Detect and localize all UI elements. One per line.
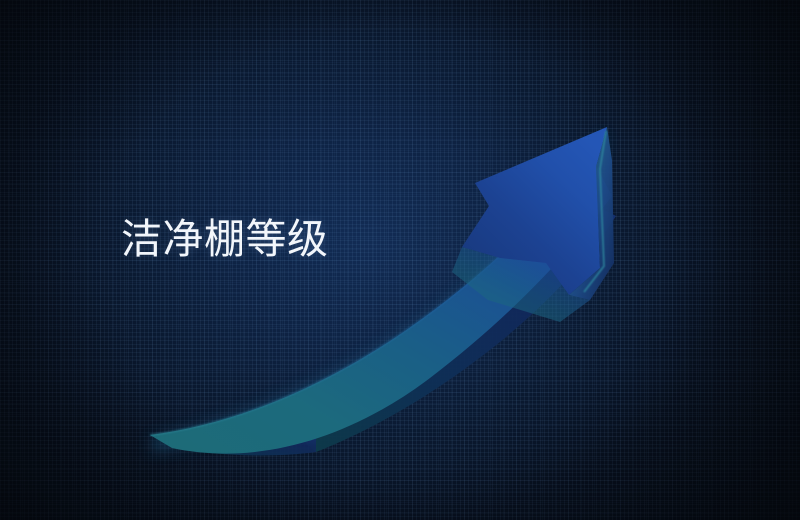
poster-canvas: 洁净棚等级 — [0, 0, 800, 520]
page-title: 洁净棚等级 — [121, 219, 329, 260]
growth-arrow-graphic — [0, 0, 800, 520]
